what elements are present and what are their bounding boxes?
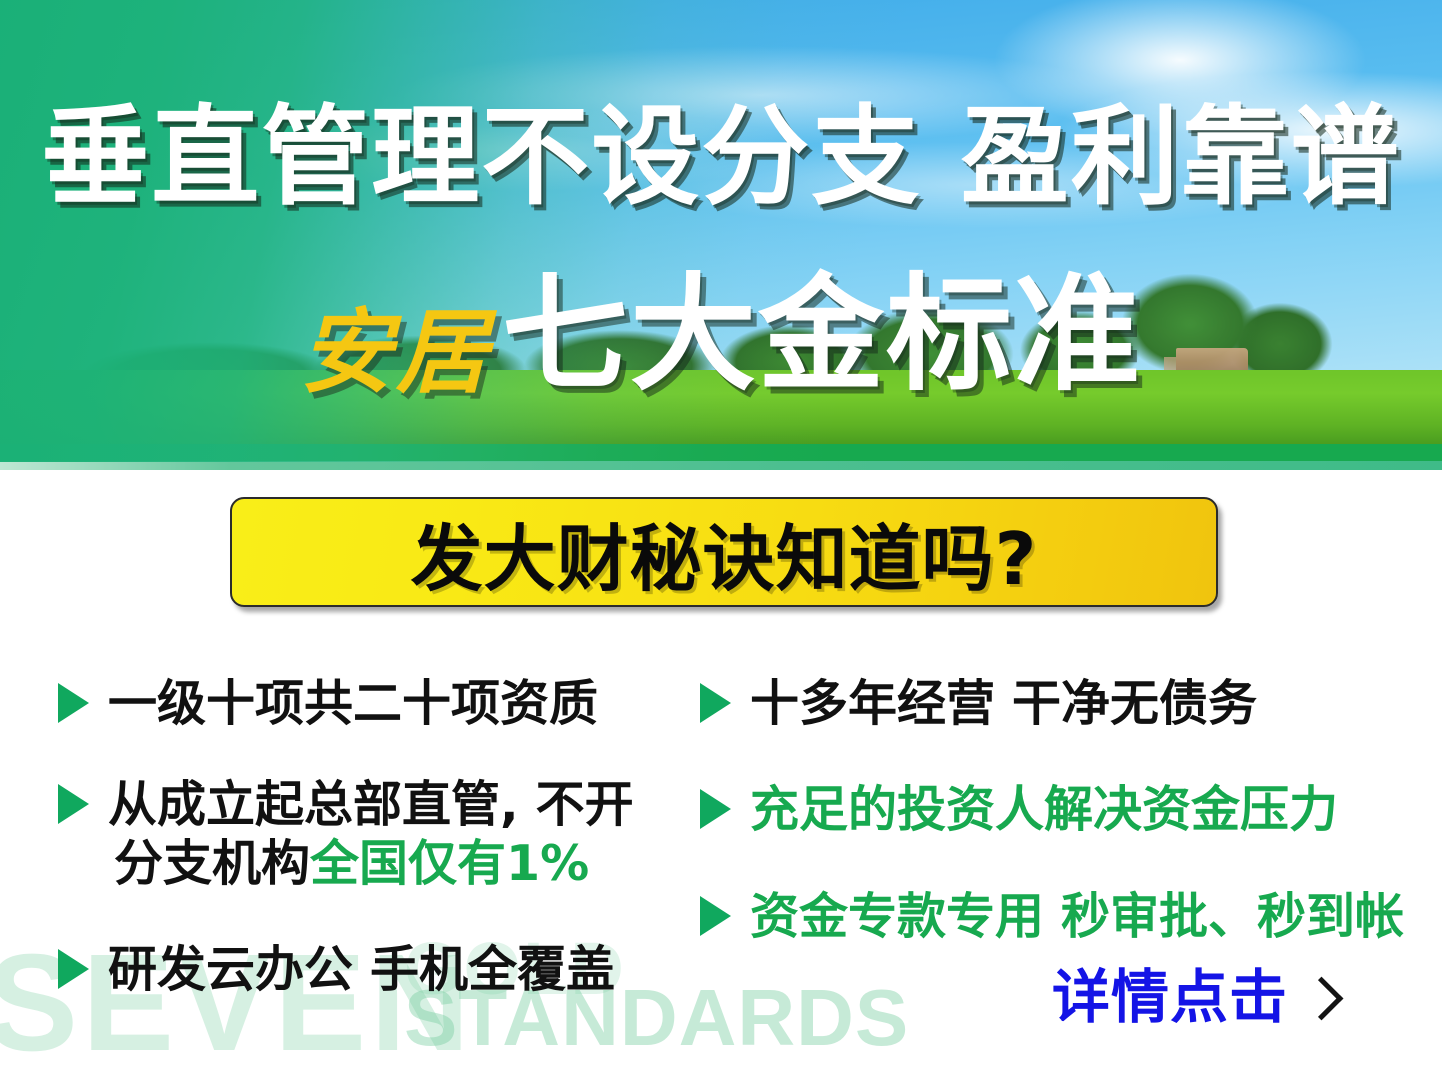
feature-text-segment: 充足的投资人解决资金压力 bbox=[750, 781, 1338, 838]
play-triangle-icon bbox=[700, 683, 731, 723]
feature-text-highlight: 全国仅有1% bbox=[310, 835, 589, 892]
hero-text-group: 垂直管理不设分支 盈利靠谱 安居七大金标准 bbox=[0, 0, 1442, 470]
list-item[interactable]: 研发云办公 手机全覆盖 bbox=[58, 940, 615, 999]
hero-headline-secondary: 安居七大金标准 bbox=[0, 272, 1442, 398]
feature-text: 研发云办公 手机全覆盖 bbox=[108, 940, 615, 999]
feature-text-segment: 资金专款专用 秒审批、秒到帐 bbox=[750, 888, 1404, 945]
feature-text: 一级十项共二十项资质 bbox=[108, 674, 598, 733]
feature-text-segment: 十多年经营 干净无债务 bbox=[750, 675, 1257, 732]
list-item[interactable]: 从成立起总部直管, 不开 分支机构全国仅有1% bbox=[58, 775, 634, 893]
chevron-right-icon bbox=[1300, 976, 1344, 1020]
feature-text-line-2: 分支机构全国仅有1% bbox=[114, 834, 634, 893]
feature-list-section: 一级十项共二十项资质 从成立起总部直管, 不开 分支机构全国仅有1% 研发云办公… bbox=[0, 650, 1442, 990]
feature-text-segment: 一级十项共二十项资质 bbox=[108, 675, 598, 732]
feature-text: 充足的投资人解决资金压力 bbox=[750, 780, 1338, 839]
feature-text: 十多年经营 干净无债务 bbox=[750, 674, 1257, 733]
feature-text: 资金专款专用 秒审批、秒到帐 bbox=[750, 887, 1404, 946]
play-triangle-icon bbox=[700, 789, 731, 829]
secret-cta-label: 发大财秘诀知道吗? bbox=[411, 500, 1038, 605]
list-item[interactable]: 十多年经营 干净无债务 bbox=[700, 674, 1257, 733]
secret-cta-banner[interactable]: 发大财秘诀知道吗? bbox=[230, 497, 1218, 607]
hero-brand-word: 安居 bbox=[300, 298, 492, 406]
play-triangle-icon bbox=[58, 949, 89, 989]
feature-text-segment: 从成立起总部直管, 不开 bbox=[108, 776, 634, 833]
list-item[interactable]: 资金专款专用 秒审批、秒到帐 bbox=[700, 887, 1404, 946]
hero-banner: 垂直管理不设分支 盈利靠谱 安居七大金标准 bbox=[0, 0, 1442, 470]
list-item[interactable]: 一级十项共二十项资质 bbox=[58, 674, 598, 733]
detail-link[interactable]: 详情点击 bbox=[1052, 968, 1337, 1026]
play-triangle-icon bbox=[58, 683, 89, 723]
hero-headline-primary: 垂直管理不设分支 盈利靠谱 bbox=[0, 104, 1442, 212]
feature-text: 从成立起总部直管, 不开 分支机构全国仅有1% bbox=[108, 775, 634, 893]
play-triangle-icon bbox=[700, 896, 731, 936]
list-item[interactable]: 充足的投资人解决资金压力 bbox=[700, 780, 1338, 839]
feature-text-segment: 分支机构 bbox=[114, 835, 310, 892]
detail-link-label: 详情点击 bbox=[1052, 968, 1288, 1026]
feature-text-segment: 研发云办公 手机全覆盖 bbox=[108, 941, 615, 998]
hero-headline-main-word: 七大金标准 bbox=[502, 261, 1142, 408]
play-triangle-icon bbox=[58, 784, 89, 824]
